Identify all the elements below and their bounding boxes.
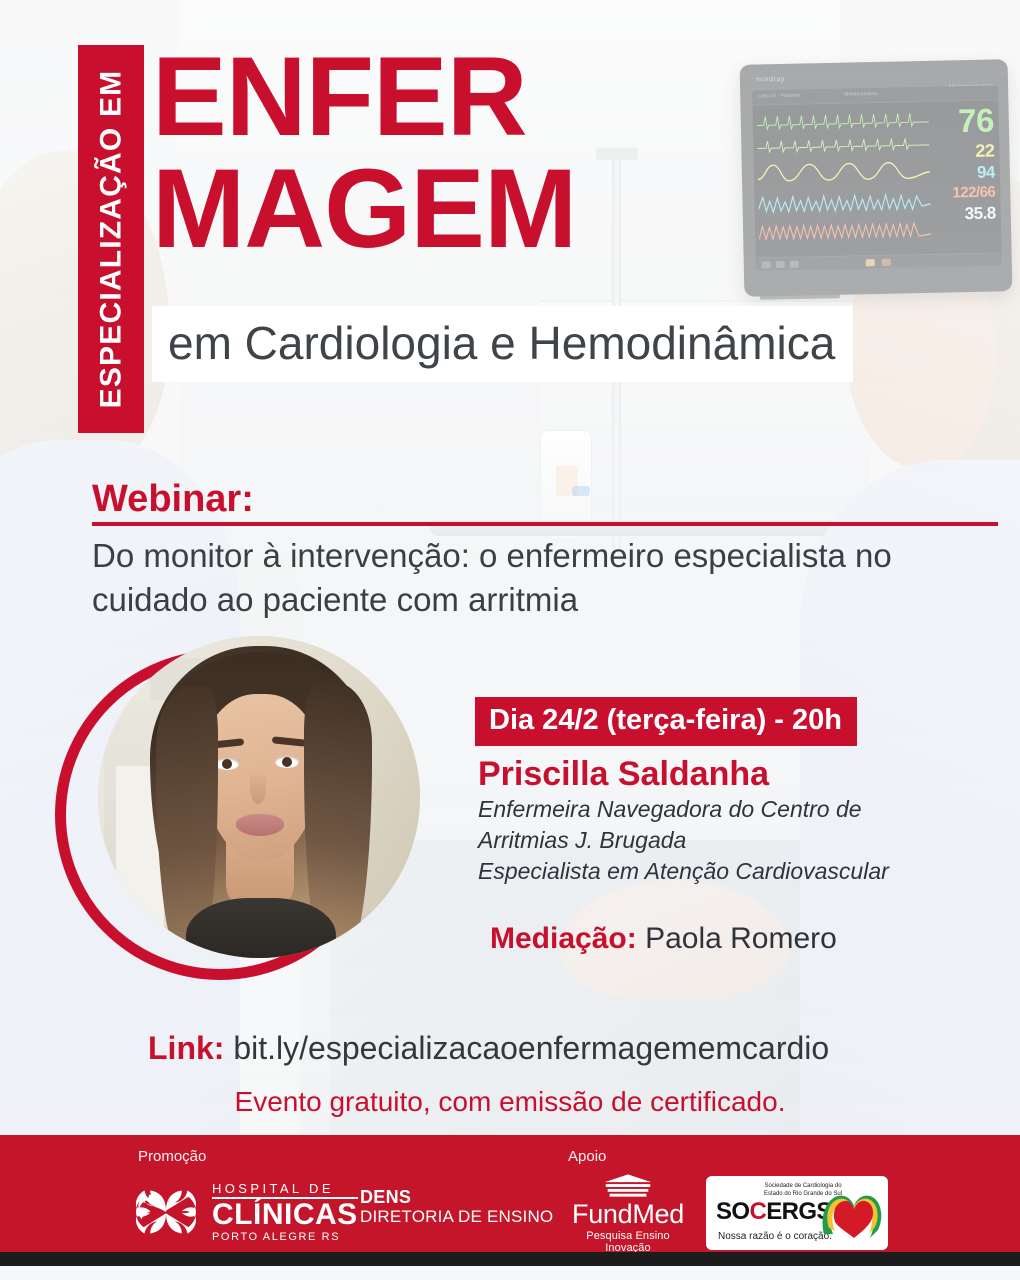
event-date-badge: Dia 24/2 (terça-feira) - 20h — [475, 697, 857, 746]
registration-link-line[interactable]: Link: bit.ly/especializacaoenfermagememc… — [148, 1030, 829, 1067]
speaker-role-line-1: Enfermeira Navegadora do Centro de — [478, 794, 978, 825]
hcpa-line-3: PORTO ALEGRE RS — [212, 1232, 358, 1243]
ribbon-label: ESPECIALIZAÇÃO EM — [94, 70, 128, 409]
socergs-tagline: Nossa razão é o coração. — [718, 1231, 832, 1242]
page-title: ENFER MAGEM — [152, 44, 576, 263]
speaker-role-line-3: Especialista em Atenção Cardiovascular — [478, 856, 978, 887]
mediation-line: Mediação: Paola Romero — [490, 922, 837, 956]
poster-content: ESPECIALIZAÇÃO EM ENFER MAGEM em Cardiol… — [0, 0, 1020, 1280]
portrait-clothing — [186, 898, 336, 958]
title-line-2: MAGEM — [152, 156, 576, 262]
hcpa-wordmark: HOSPITAL DE CLÍNICAS PORTO ALEGRE RS — [212, 1182, 358, 1243]
dens-logo: DENS DIRETORIA DE ENSINO — [360, 1187, 553, 1226]
portrait-pupil-left — [222, 759, 232, 769]
speaker-portrait — [98, 636, 420, 958]
speaker-role: Enfermeira Navegadora do Centro de Arrit… — [478, 794, 978, 886]
link-url[interactable]: bit.ly/especializacaoenfermagememcardio — [233, 1030, 829, 1066]
webinar-label: Webinar: — [92, 478, 254, 521]
webinar-description: Do monitor à intervenção: o enfermeiro e… — [92, 534, 982, 622]
speaker-name: Priscilla Saldanha — [478, 755, 769, 794]
footer-bar: Promoção Apoio HOSPITAL DE C — [0, 1135, 1020, 1266]
fundmed-tagline: Pesquisa Ensino Inovação — [563, 1230, 693, 1254]
portrait-nose — [250, 770, 266, 804]
link-label: Link: — [148, 1030, 224, 1066]
socergs-name-accent: C — [749, 1198, 766, 1225]
hcpa-line-2: CLÍNICAS — [212, 1200, 358, 1230]
webinar-divider — [92, 522, 998, 526]
footer-bottom-strip — [0, 1252, 1020, 1266]
fundmed-name: FundMed — [563, 1201, 693, 1228]
page-subtitle: em Cardiologia e Hemodinâmica — [152, 306, 853, 382]
fundmed-building-icon — [599, 1173, 657, 1199]
title-line-1: ENFER — [152, 34, 527, 159]
dens-full-name: DIRETORIA DE ENSINO — [360, 1207, 553, 1226]
hcpa-logo: HOSPITAL DE CLÍNICAS PORTO ALEGRE RS — [130, 1179, 358, 1245]
portrait-pupil-right — [282, 757, 292, 767]
fundmed-logo: FundMed Pesquisa Ensino Inovação — [563, 1173, 693, 1254]
hcpa-cross-icon — [130, 1179, 202, 1245]
specialization-ribbon: ESPECIALIZAÇÃO EM — [78, 45, 144, 433]
free-event-notice: Evento gratuito, com emissão de certific… — [0, 1086, 1020, 1118]
mediation-name: Paola Romero — [645, 922, 837, 955]
socergs-wordmark: SOCERGS — [716, 1198, 832, 1226]
socergs-logo: Sociedade de Cardiologia do Estado do Ri… — [706, 1176, 888, 1250]
webinar-poster: mindray Monitoramento Leito 02 - Pacient… — [0, 0, 1020, 1280]
socergs-name-prefix: SO — [716, 1198, 749, 1225]
mediation-label: Mediação: — [490, 922, 637, 955]
support-label: Apoio — [568, 1148, 606, 1165]
portrait-lips — [236, 814, 284, 836]
speaker-role-line-2: Arritmias J. Brugada — [478, 825, 978, 856]
socergs-heart-icon — [820, 1184, 882, 1242]
hcpa-line-1: HOSPITAL DE — [212, 1182, 358, 1195]
dens-acronym: DENS — [360, 1187, 553, 1207]
promotion-label: Promoção — [138, 1148, 206, 1165]
